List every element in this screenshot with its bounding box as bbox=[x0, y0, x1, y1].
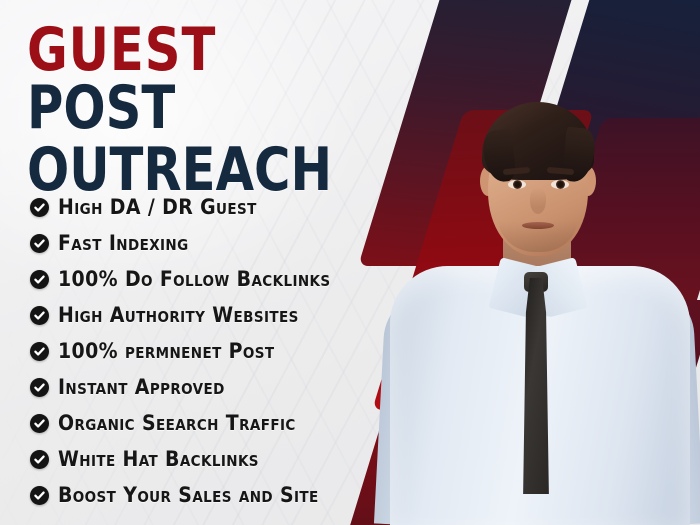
check-circle-icon bbox=[30, 234, 49, 253]
portrait-iris-left bbox=[513, 180, 522, 189]
feature-item-label: Instant Approved bbox=[58, 377, 225, 398]
check-circle-icon bbox=[30, 486, 49, 505]
headline-line-1: GUEST bbox=[27, 22, 395, 78]
feature-item-label: Organic Seearch Traffic bbox=[58, 413, 296, 434]
feature-item-label: White Hat Backlinks bbox=[58, 449, 259, 470]
feature-item: High Authority Websites bbox=[30, 297, 380, 333]
check-circle-icon bbox=[30, 342, 49, 361]
feature-item: White Hat Backlinks bbox=[30, 441, 380, 477]
portrait-tie bbox=[522, 278, 550, 494]
feature-item-label: High DA / DR Guest bbox=[58, 197, 257, 218]
feature-item-label: 100% Do Follow Backlinks bbox=[58, 269, 331, 290]
portrait-mouth bbox=[522, 222, 554, 229]
feature-item: High DA / DR Guest bbox=[30, 189, 380, 225]
check-circle-icon bbox=[30, 198, 49, 217]
check-circle-icon bbox=[30, 450, 49, 469]
feature-item: Instant Approved bbox=[30, 369, 380, 405]
headline-block: GUEST POST OUTREACH bbox=[27, 22, 427, 201]
feature-item: 100% permnenet Post bbox=[30, 333, 380, 369]
feature-item: Boost Your Sales and Site bbox=[30, 477, 380, 513]
portrait-eye-left bbox=[508, 180, 526, 189]
feature-item-label: 100% permnenet Post bbox=[58, 341, 275, 362]
feature-item-label: High Authority Websites bbox=[58, 305, 299, 326]
feature-item-label: Boost Your Sales and Site bbox=[58, 485, 319, 506]
headline-line-2: POST OUTREACH bbox=[27, 78, 395, 200]
check-circle-icon bbox=[30, 378, 49, 397]
feature-item: Organic Seearch Traffic bbox=[30, 405, 380, 441]
feature-item: 100% Do Follow Backlinks bbox=[30, 261, 380, 297]
feature-item: Fast Indexing bbox=[30, 225, 380, 261]
portrait-eye-right bbox=[551, 180, 569, 189]
check-circle-icon bbox=[30, 414, 49, 433]
portrait-nose bbox=[530, 188, 546, 214]
feature-list: High DA / DR GuestFast Indexing100% Do F… bbox=[30, 189, 380, 513]
check-circle-icon bbox=[30, 306, 49, 325]
promo-banner: GUEST POST OUTREACH High DA / DR GuestFa… bbox=[0, 0, 700, 525]
check-circle-icon bbox=[30, 270, 49, 289]
feature-item-label: Fast Indexing bbox=[58, 233, 189, 254]
portrait-iris-right bbox=[556, 180, 565, 189]
